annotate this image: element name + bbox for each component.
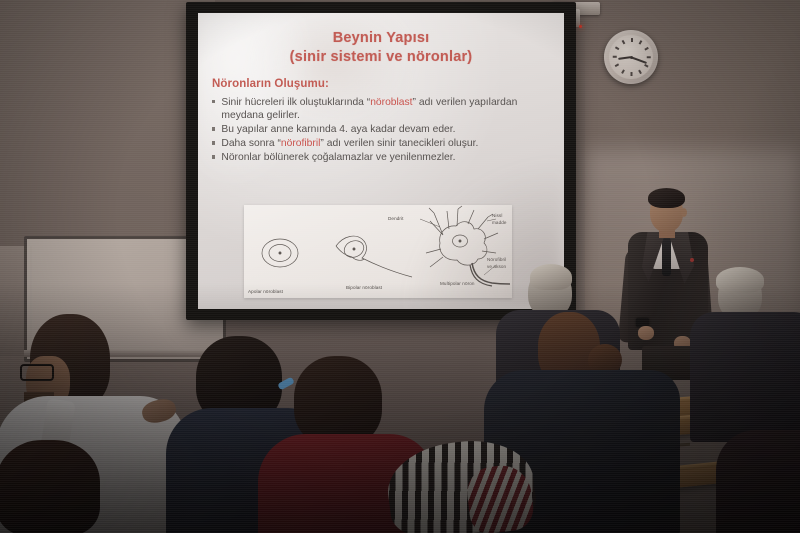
slide-title: Beynin Yapısı (sinir sistemi ve nöronlar…	[212, 29, 550, 66]
bullet-text: Daha sonra “nörofibril” adı verilen sini…	[221, 137, 550, 150]
attendee-front-right	[716, 430, 800, 533]
hair	[0, 440, 100, 533]
status-led-icon	[579, 25, 582, 28]
clock-face	[609, 35, 653, 79]
torso	[716, 430, 800, 533]
bullet-text: Sinir hücreleri ilk oluştuklarında “nöro…	[221, 96, 550, 122]
clock-center-pin	[630, 56, 633, 59]
projection-screen: Beynin Yapısı (sinir sistemi ve nöronlar…	[198, 13, 564, 309]
bullet-square-icon	[212, 155, 215, 158]
slide-title-line-2: (sinir sistemi ve nöronlar)	[212, 48, 550, 67]
slide-bullet-list: Sinir hücreleri ilk oluştuklarında “nöro…	[212, 96, 550, 164]
student-striped-hat	[382, 438, 542, 533]
hair	[530, 264, 572, 290]
attendee-grey-hair-right	[700, 272, 800, 442]
presenter-lapel-pin	[690, 258, 694, 262]
presenter-ear	[681, 208, 687, 217]
list-item: Daha sonra “nörofibril” adı verilen sini…	[212, 137, 550, 150]
hair	[294, 356, 382, 446]
glasses-icon	[20, 364, 54, 381]
presenter-tie	[662, 236, 671, 276]
bullet-square-icon	[212, 141, 215, 144]
list-item: Sinir hücreleri ilk oluştuklarında “nöro…	[212, 96, 550, 122]
slide-heading: Nöronların Oluşumu:	[212, 78, 550, 90]
bullet-square-icon	[212, 100, 215, 103]
list-item: Bu yapılar anne karnında 4. aya kadar de…	[212, 123, 550, 136]
diagram-label-apolar: Apolar nöroblast	[248, 289, 283, 295]
diagram-label-dendrit: Dendrit	[388, 216, 404, 222]
presenter-hair	[648, 188, 685, 208]
bullet-square-icon	[212, 127, 215, 130]
diagram-label-bipolar: Bipolar nöroblast	[346, 285, 382, 291]
attendee-front-left-dark	[0, 440, 130, 533]
wall-clock	[604, 30, 658, 84]
torso	[690, 312, 800, 442]
slide-title-line-1: Beynin Yapısı	[212, 29, 550, 48]
clock-minute-hand	[631, 56, 648, 63]
bullet-text: Bu yapılar anne karnında 4. aya kadar de…	[221, 123, 550, 136]
hair	[716, 267, 764, 293]
lecture-hall-photo: 170-2000 Beynin Yapısı (sinir sistemi ve…	[0, 0, 800, 533]
